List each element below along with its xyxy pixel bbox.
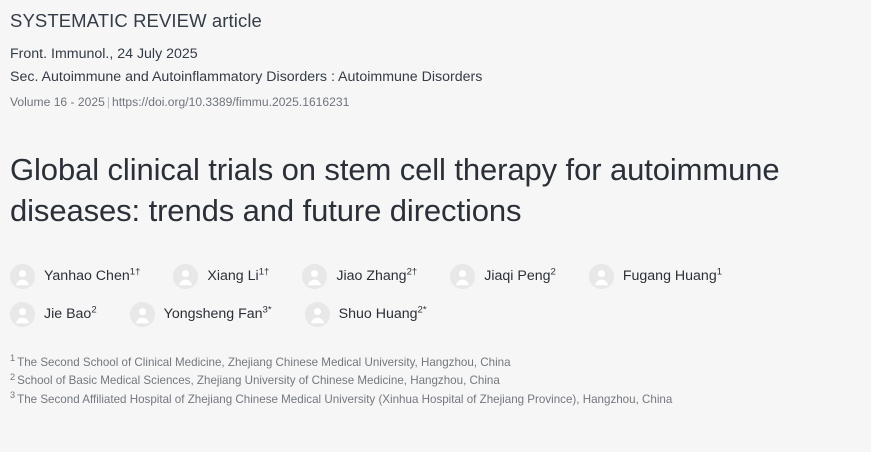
volume-doi-separator: | [105,95,112,109]
person-avatar-icon [130,302,155,327]
affiliation-item: 1The Second School of Clinical Medicine,… [10,354,861,373]
author-item[interactable]: Yanhao Chen1† [10,264,140,289]
author-affiliation-marker: 2† [407,266,418,277]
author-name[interactable]: Yongsheng Fan3* [164,306,272,323]
author-item[interactable]: Shuo Huang2* [305,302,427,327]
author-item[interactable]: Yongsheng Fan3* [130,302,272,327]
page-title: Global clinical trials on stem cell ther… [10,150,861,232]
journal-section: Sec. Autoimmune and Autoinflammatory Dis… [10,68,861,87]
author-list: Yanhao Chen1†Xiang Li1†Jiao Zhang2†Jiaqi… [10,264,861,327]
person-avatar-icon [305,302,330,327]
author-item[interactable]: Xiang Li1† [173,264,269,289]
author-name[interactable]: Jiaqi Peng2 [484,268,556,285]
volume-label: Volume 16 - 2025 [10,95,105,109]
author-item[interactable]: Jie Bao2 [10,302,97,327]
author-name[interactable]: Shuo Huang2* [339,306,427,323]
author-affiliation-marker: 1 [717,266,722,277]
person-avatar-icon [10,302,35,327]
author-affiliation-marker: 1† [259,266,270,277]
affiliation-item: 3The Second Affiliated Hospital of Zheji… [10,391,861,410]
person-avatar-icon [589,264,614,289]
person-avatar-icon [10,264,35,289]
affiliation-item: 2School of Basic Medical Sciences, Zheji… [10,372,861,391]
person-avatar-icon [450,264,475,289]
author-name[interactable]: Yanhao Chen1† [44,268,140,285]
author-affiliation-marker: 1† [130,266,141,277]
author-name[interactable]: Xiang Li1† [207,268,269,285]
doi-link[interactable]: https://doi.org/10.3389/fimmu.2025.16162… [112,95,349,109]
author-name[interactable]: Jie Bao2 [44,306,97,323]
author-affiliation-marker: 2* [418,304,427,315]
affiliation-text: The Second School of Clinical Medicine, … [17,356,510,369]
author-name[interactable]: Jiao Zhang2† [336,268,417,285]
author-affiliation-marker: 3* [263,304,272,315]
author-item[interactable]: Fugang Huang1 [589,264,722,289]
affiliation-list: 1The Second School of Clinical Medicine,… [10,354,861,410]
author-item[interactable]: Jiaqi Peng2 [450,264,556,289]
author-name[interactable]: Fugang Huang1 [623,268,722,285]
person-avatar-icon [302,264,327,289]
article-type-label: SYSTEMATIC REVIEW article [10,0,861,32]
volume-and-doi-line: Volume 16 - 2025|https://doi.org/10.3389… [10,94,861,110]
affiliation-text: The Second Affiliated Hospital of Zhejia… [17,393,672,406]
author-affiliation-marker: 2 [551,266,556,277]
person-avatar-icon [173,264,198,289]
journal-and-date: Front. Immunol., 24 July 2025 [10,45,861,64]
author-affiliation-marker: 2 [91,304,96,315]
affiliation-text: School of Basic Medical Sciences, Zhejia… [17,374,500,387]
article-header-page: SYSTEMATIC REVIEW article Front. Immunol… [0,0,871,452]
author-item[interactable]: Jiao Zhang2† [302,264,417,289]
